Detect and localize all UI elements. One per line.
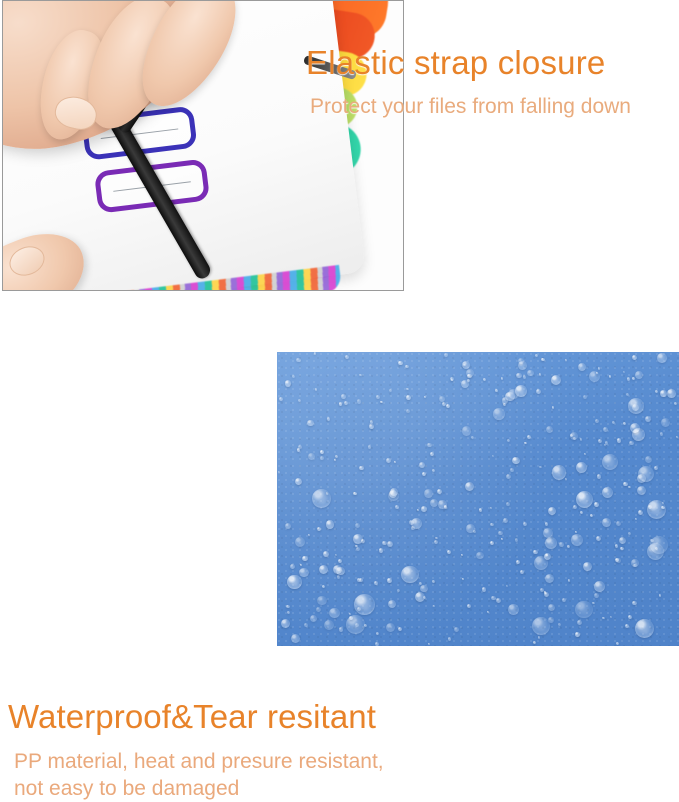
- water-droplet: [406, 409, 410, 413]
- water-droplet: [437, 489, 442, 494]
- water-droplet: [315, 388, 318, 391]
- water-droplet: [615, 544, 619, 548]
- water-droplet: [387, 578, 392, 583]
- water-droplet: [632, 601, 637, 606]
- water-droplet: [515, 385, 527, 397]
- water-droplet: [507, 439, 510, 442]
- water-droplet: [308, 534, 311, 537]
- headline-waterproof: Waterproof&Tear resitant: [8, 698, 376, 736]
- subtitle-line-2: not easy to be damaged: [14, 775, 384, 802]
- water-droplet: [320, 456, 324, 460]
- water-droplet: [354, 594, 375, 615]
- water-droplet: [567, 545, 570, 548]
- water-droplet: [623, 482, 628, 487]
- water-droplet: [598, 367, 600, 369]
- panel-elastic-strap: ✂ 10 11 12: [0, 0, 679, 300]
- water-droplet: [335, 455, 338, 458]
- water-droplet: [386, 623, 395, 632]
- water-droplet: [466, 524, 475, 533]
- water-droplet: [323, 551, 329, 557]
- water-droplet: [344, 401, 348, 405]
- water-droplet: [598, 439, 602, 443]
- water-droplet: [539, 466, 542, 469]
- water-droplet: [490, 541, 494, 545]
- water-droplet: [638, 510, 643, 515]
- water-droplet: [501, 377, 503, 379]
- water-droplet: [420, 585, 428, 593]
- water-droplet: [575, 632, 580, 637]
- water-droplet: [578, 363, 586, 371]
- water-droplet: [568, 579, 570, 581]
- water-droplet: [512, 457, 520, 465]
- water-droplet: [565, 359, 567, 361]
- water-droplet: [552, 406, 554, 408]
- water-droplet: [562, 598, 566, 602]
- water-droplet: [353, 534, 363, 544]
- water-droplet: [479, 508, 483, 512]
- water-droplet: [423, 596, 426, 599]
- water-droplet: [308, 453, 315, 460]
- water-droplet: [491, 596, 496, 601]
- water-droplet: [317, 596, 327, 606]
- water-droplet: [571, 534, 583, 546]
- water-droplet: [341, 394, 345, 398]
- water-droplet: [295, 478, 302, 485]
- water-droplet: [368, 445, 372, 449]
- water-droplet: [369, 424, 374, 429]
- water-droplet: [515, 538, 518, 541]
- water-droplet: [635, 619, 654, 638]
- water-droplet: [424, 396, 426, 398]
- water-droplet: [545, 537, 557, 549]
- water-droplet: [471, 436, 474, 439]
- water-droplet: [637, 474, 646, 483]
- water-droplet: [625, 624, 629, 628]
- water-droplet: [310, 615, 317, 622]
- water-droplet: [538, 636, 540, 638]
- water-droplet: [462, 426, 472, 436]
- water-droplet: [584, 453, 586, 455]
- water-droplet: [406, 395, 411, 400]
- water-droplet: [602, 518, 611, 527]
- panel-waterproof: Waterproof&Tear resitant PP material, he…: [0, 300, 679, 646]
- water-droplet: [565, 478, 567, 480]
- subtitle-elastic-strap: Protect your files from falling down: [310, 95, 631, 119]
- water-droplet: [454, 627, 459, 632]
- water-droplet: [461, 554, 463, 556]
- water-droplet: [590, 514, 593, 517]
- water-droplet: [583, 562, 592, 571]
- water-droplet: [523, 522, 527, 526]
- water-droplet: [493, 408, 504, 419]
- water-droplet: [359, 374, 362, 377]
- water-droplet: [592, 602, 595, 605]
- water-droplet: [302, 556, 308, 562]
- water-droplet: [345, 355, 349, 359]
- waterproof-photo: [277, 352, 679, 646]
- water-droplet: [389, 389, 392, 392]
- subtitle-waterproof: PP material, heat and presure resistant,…: [14, 748, 384, 802]
- water-droplet: [444, 353, 448, 357]
- water-droplet: [357, 399, 362, 404]
- water-droplet: [327, 417, 330, 420]
- headline-elastic-strap: Elastic strap closure: [306, 44, 605, 82]
- water-droplet: [660, 432, 663, 435]
- water-droplet: [602, 487, 614, 499]
- water-droplet: [544, 553, 551, 560]
- water-droplet: [502, 397, 508, 403]
- water-droplet: [631, 559, 639, 567]
- water-droplet: [594, 502, 599, 507]
- water-droplet: [483, 378, 486, 381]
- water-droplet: [594, 593, 599, 598]
- water-droplet: [501, 538, 503, 540]
- water-droplet: [439, 396, 445, 402]
- water-droplet: [334, 459, 336, 461]
- water-droplet: [324, 620, 334, 630]
- water-droplet: [595, 419, 599, 423]
- water-droplet: [506, 585, 508, 587]
- water-droplet: [316, 607, 321, 612]
- water-droplet: [533, 641, 536, 644]
- water-droplet: [533, 550, 537, 554]
- water-droplet: [433, 605, 435, 607]
- water-droplet: [583, 395, 588, 400]
- water-droplet: [498, 531, 502, 535]
- water-droplet: [286, 605, 290, 609]
- water-droplet: [552, 465, 566, 479]
- water-droplet: [314, 352, 317, 355]
- water-droplet: [551, 375, 561, 385]
- water-droplet: [548, 617, 554, 623]
- water-droplet: [467, 604, 471, 608]
- water-droplet: [338, 559, 342, 563]
- water-droplet: [576, 462, 587, 473]
- water-droplet: [448, 637, 452, 641]
- water-droplet: [676, 436, 678, 438]
- water-droplet: [326, 520, 334, 528]
- water-droplet: [290, 564, 295, 569]
- water-droplet: [298, 399, 301, 402]
- water-droplet: [623, 371, 625, 373]
- water-droplet: [516, 373, 521, 378]
- water-droplet: [520, 570, 524, 574]
- water-droplet: [573, 505, 577, 509]
- water-droplet: [398, 627, 402, 631]
- water-droplet: [422, 472, 426, 476]
- water-droplet: [285, 523, 291, 529]
- water-droplet: [516, 560, 520, 564]
- water-droplet: [299, 568, 308, 577]
- water-droplet: [335, 554, 337, 556]
- water-droplet: [580, 511, 583, 514]
- water-droplet: [438, 500, 447, 509]
- water-droplet: [304, 623, 308, 627]
- water-droplet: [339, 627, 343, 631]
- water-droplet: [545, 574, 554, 583]
- water-droplet: [387, 541, 393, 547]
- water-droplet: [292, 375, 295, 378]
- water-droplet: [617, 438, 621, 442]
- water-droplet: [375, 642, 379, 646]
- water-droplets: [277, 352, 679, 646]
- water-droplet: [297, 448, 300, 451]
- water-droplet: [632, 355, 637, 360]
- water-droplet: [428, 643, 430, 645]
- water-droplet: [597, 474, 602, 479]
- water-droplet: [465, 482, 474, 491]
- water-droplet: [398, 361, 402, 365]
- water-droplet: [388, 600, 396, 608]
- water-droplet: [405, 365, 409, 369]
- water-droplet: [353, 492, 356, 495]
- water-droplet: [527, 435, 531, 439]
- water-droplet: [434, 540, 438, 544]
- water-droplet: [287, 611, 290, 614]
- water-droplet: [674, 402, 677, 405]
- water-droplet: [397, 589, 400, 592]
- water-droplet: [602, 617, 605, 620]
- water-droplet: [291, 634, 301, 644]
- water-droplet: [589, 371, 600, 382]
- water-droplet: [546, 426, 553, 433]
- water-droplet: [506, 474, 511, 479]
- water-droplet: [467, 379, 470, 382]
- water-droplet: [628, 615, 633, 620]
- water-droplet: [421, 506, 427, 512]
- water-droplet: [427, 443, 432, 448]
- water-droplet: [417, 509, 419, 511]
- water-droplet: [620, 547, 624, 551]
- water-droplet: [659, 594, 662, 597]
- water-droplet: [492, 455, 494, 457]
- water-droplet: [476, 552, 483, 559]
- water-droplet: [380, 401, 382, 403]
- water-droplet: [389, 490, 397, 498]
- water-droplet: [575, 531, 577, 533]
- index-row-number: 12: [17, 180, 53, 218]
- water-droplet: [580, 438, 583, 441]
- water-droplet: [619, 537, 626, 544]
- water-droplet: [339, 402, 343, 406]
- water-droplet: [296, 358, 301, 363]
- water-droplet: [558, 623, 561, 626]
- water-droplet: [506, 502, 510, 506]
- water-droplet: [616, 642, 619, 645]
- water-droplet: [559, 542, 564, 547]
- water-droplet: [379, 548, 384, 553]
- water-droplet: [435, 537, 437, 539]
- water-droplet: [605, 441, 609, 445]
- water-droplet: [447, 550, 451, 554]
- water-droplet: [424, 489, 433, 498]
- water-droplet: [596, 536, 601, 541]
- water-droplet: [432, 469, 435, 472]
- water-droplet: [527, 370, 533, 376]
- water-droplet: [603, 427, 608, 432]
- water-droplet: [359, 466, 364, 471]
- water-droplet: [632, 377, 635, 380]
- water-droplet: [320, 450, 324, 454]
- water-droplet: [355, 523, 360, 528]
- water-droplet: [539, 373, 541, 375]
- water-droplet: [395, 505, 399, 509]
- water-droplet: [462, 578, 464, 580]
- water-droplet: [333, 565, 342, 574]
- water-droplet: [628, 532, 631, 535]
- water-droplet: [317, 527, 321, 531]
- water-droplet: [667, 389, 676, 398]
- water-droplet: [661, 418, 670, 427]
- water-droplet: [637, 486, 646, 495]
- water-droplet: [386, 458, 391, 463]
- water-droplet: [295, 537, 306, 548]
- water-droplet: [279, 397, 283, 401]
- water-droplet: [278, 471, 280, 473]
- water-droplet: [432, 580, 435, 583]
- water-droplet: [376, 395, 380, 399]
- water-droplet: [490, 523, 494, 527]
- water-droplet: [627, 377, 631, 381]
- water-droplet: [616, 521, 621, 526]
- water-droplet: [409, 520, 414, 525]
- water-droplet: [548, 604, 556, 612]
- water-droplet: [623, 422, 626, 425]
- water-droplet: [394, 461, 396, 463]
- water-droplet: [376, 632, 379, 635]
- water-droplet: [490, 507, 492, 509]
- water-droplet: [322, 585, 326, 589]
- water-droplet: [419, 582, 422, 585]
- water-droplet: [467, 374, 471, 378]
- water-droplet: [430, 499, 439, 508]
- water-droplet: [508, 604, 519, 615]
- water-droplet: [635, 518, 637, 520]
- water-droplet: [535, 354, 539, 358]
- water-droplet: [401, 566, 419, 584]
- water-droplet: [503, 518, 508, 523]
- water-droplet: [626, 393, 629, 396]
- water-droplet: [419, 462, 425, 468]
- water-droplet: [357, 607, 362, 612]
- subtitle-line-1: PP material, heat and presure resistant,: [14, 748, 384, 775]
- water-droplet: [307, 420, 313, 426]
- water-droplet: [450, 377, 454, 381]
- water-droplet: [496, 598, 502, 604]
- water-droplet: [543, 528, 553, 538]
- water-droplet: [548, 507, 556, 515]
- water-droplet: [610, 616, 612, 618]
- water-droplet: [523, 375, 527, 379]
- water-droplet: [357, 578, 361, 582]
- water-droplet: [645, 416, 652, 423]
- water-droplet: [281, 619, 291, 629]
- water-droplet: [356, 547, 360, 551]
- water-droplet: [544, 592, 549, 597]
- water-droplet: [602, 454, 618, 470]
- water-droplet: [576, 491, 593, 508]
- water-droplet: [657, 353, 667, 363]
- water-droplet: [329, 608, 340, 619]
- water-droplet: [524, 442, 527, 445]
- water-droplet: [337, 575, 341, 579]
- water-droplet: [594, 581, 605, 592]
- water-droplet: [319, 565, 328, 574]
- water-droplet: [628, 398, 644, 414]
- water-droplet: [446, 404, 450, 408]
- water-droplet: [660, 390, 666, 396]
- water-droplet: [482, 587, 487, 592]
- water-droplet: [577, 620, 582, 625]
- water-droplet: [654, 466, 658, 470]
- water-droplet: [510, 468, 513, 471]
- water-droplet: [430, 452, 434, 456]
- water-droplet: [629, 441, 633, 445]
- water-droplet: [609, 375, 611, 377]
- water-droplet: [655, 390, 658, 393]
- water-droplet: [370, 420, 374, 424]
- water-droplet: [287, 575, 301, 589]
- water-droplet: [612, 421, 615, 424]
- water-droplet: [411, 526, 414, 529]
- water-droplet: [487, 611, 489, 613]
- water-droplet: [285, 380, 292, 387]
- water-droplet: [406, 388, 408, 390]
- water-droplet: [575, 601, 593, 619]
- water-droplet: [536, 389, 541, 394]
- water-droplet: [545, 522, 549, 526]
- water-droplet: [650, 539, 653, 542]
- water-droplet: [635, 371, 643, 379]
- water-droplet: [645, 456, 652, 463]
- water-droplet: [374, 581, 378, 585]
- water-droplet: [495, 389, 498, 392]
- water-droplet: [541, 358, 544, 361]
- water-droplet: [300, 564, 302, 566]
- water-droplet: [628, 486, 631, 489]
